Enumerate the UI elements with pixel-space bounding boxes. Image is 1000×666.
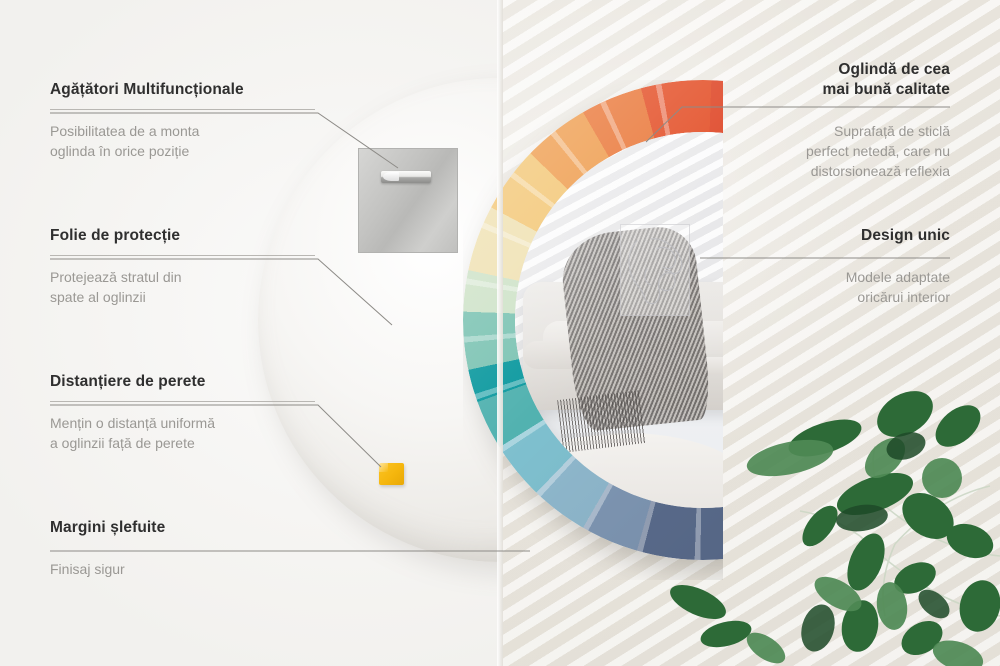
- callout-wall-spacers-body: Mențin o distanță uniformă a oglinzii fa…: [50, 413, 315, 454]
- callout-hangers-rule: [50, 109, 315, 110]
- callout-best-quality-rule: [685, 109, 950, 110]
- callout-protective-film-body: Protejează stratul din spate al oglinzii: [50, 267, 315, 308]
- callout-wall-spacers-rule: [50, 401, 315, 402]
- hanger-keyhole-slot: [381, 171, 431, 183]
- callout-hangers: Agățători Multifuncționale Posibilitatea…: [50, 80, 315, 161]
- callout-best-quality-body-line2: perfect netedă, care nu: [685, 141, 950, 161]
- callout-polished-edges-title: Margini șlefuite: [50, 518, 530, 538]
- callout-protective-film-body-line1: Protejează stratul din: [50, 267, 315, 287]
- yellow-spacer-block: [379, 463, 404, 485]
- callout-hangers-body: Posibilitatea de a monta oglinda în oric…: [50, 121, 315, 162]
- callout-unique-design-body-line2: oricărui interior: [685, 287, 950, 307]
- infographic-canvas: Agățători Multifuncționale Posibilitatea…: [0, 0, 1000, 666]
- callout-wall-spacers: Distanțiere de perete Mențin o distanță …: [50, 372, 315, 453]
- callout-polished-edges-body: Finisaj sigur: [50, 559, 530, 579]
- callout-polished-edges-rule: [50, 547, 530, 548]
- callout-polished-edges-body-line1: Finisaj sigur: [50, 559, 530, 579]
- callout-unique-design-title: Design unic: [685, 226, 950, 246]
- callout-wall-spacers-title: Distanțiere de perete: [50, 372, 315, 392]
- callout-wall-spacers-body-line2: a oglinzii față de perete: [50, 433, 315, 453]
- callout-best-quality-title: Oglindă de cea mai bună calitate: [685, 60, 950, 100]
- callout-protective-film-title: Folie de protecție: [50, 226, 315, 246]
- callout-unique-design: Design unic Modele adaptate oricărui int…: [685, 226, 950, 307]
- callout-unique-design-body: Modele adaptate oricărui interior: [685, 267, 950, 308]
- callout-unique-design-rule: [685, 255, 950, 256]
- callout-hangers-body-line1: Posibilitatea de a monta: [50, 121, 315, 141]
- callout-protective-film: Folie de protecție Protejează stratul di…: [50, 226, 315, 307]
- callout-hangers-title: Agățători Multifuncționale: [50, 80, 315, 100]
- callout-protective-film-rule: [50, 255, 315, 256]
- callout-best-quality-title-line1: Oglindă de cea: [685, 60, 950, 80]
- callout-polished-edges: Margini șlefuite Finisaj sigur: [50, 518, 530, 579]
- callout-protective-film-body-line2: spate al oglinzii: [50, 287, 315, 307]
- callout-wall-spacers-body-line1: Mențin o distanță uniformă: [50, 413, 315, 433]
- callout-best-quality-body: Suprafață de sticlă perfect netedă, care…: [685, 121, 950, 182]
- callout-best-quality-body-line1: Suprafață de sticlă: [685, 121, 950, 141]
- callout-best-quality-title-line2: mai bună calitate: [685, 80, 950, 100]
- wall-hanger-plate: [358, 148, 458, 253]
- callout-hangers-body-line2: oglinda în orice poziție: [50, 141, 315, 161]
- callout-best-quality-body-line3: distorsionează reflexia: [685, 161, 950, 181]
- callout-best-quality: Oglindă de cea mai bună calitate Suprafa…: [685, 60, 950, 182]
- callout-unique-design-body-line1: Modele adaptate: [685, 267, 950, 287]
- decorative-plant: [670, 366, 1000, 666]
